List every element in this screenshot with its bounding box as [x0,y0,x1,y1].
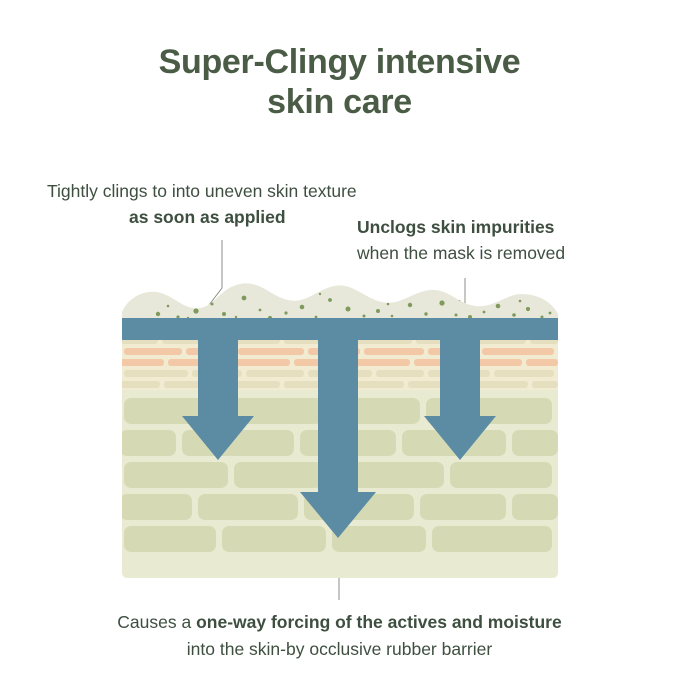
caption-bottom-pre: Causes a [117,612,196,632]
caption-bottom: Causes a one-way forcing of the actives … [0,609,679,663]
caption-bottom-bold: one-way forcing of the actives and moist… [196,612,562,632]
caption-bottom-line-2: into the skin-by occlusive rubber barrie… [0,636,679,663]
mask-layer-top [122,283,558,322]
page-root: Super-Clingy intensive skin care Tightly… [0,0,679,679]
rubber-barrier-layer [122,318,558,340]
skin-cross-section-diagram [120,270,560,590]
caption-bottom-line-1: Causes a one-way forcing of the actives … [0,609,679,636]
